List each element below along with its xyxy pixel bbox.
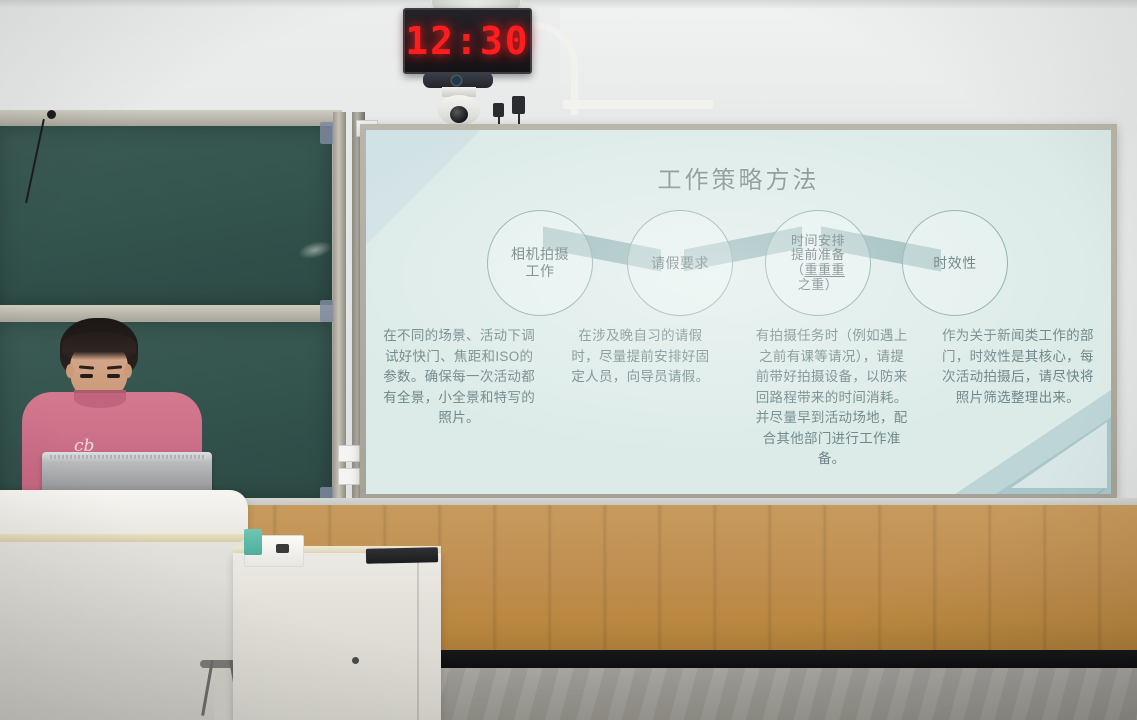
chalkboard-panel-upper	[0, 126, 332, 306]
step-circle-4-label: 时效性	[927, 255, 983, 272]
slide-surface: 工作策略方法 相机拍摄工作 请假要求 时间安排提前准备（重重重之重） 时效性	[366, 130, 1111, 494]
wall-webcam-bar	[423, 72, 493, 88]
microphone-head	[47, 110, 56, 119]
clock-time: 12:30	[405, 19, 529, 63]
cabinet-knob[interactable]	[352, 657, 359, 664]
step-body-2: 在涉及晚自习的请假时，尽量提前安排好固定人员，向导员请假。	[552, 326, 738, 470]
podium-desktop	[0, 490, 248, 536]
eye-right	[107, 374, 120, 378]
led-wall-clock: 12:30	[403, 8, 532, 74]
chalkboard-clip	[320, 122, 334, 144]
step-body-1: 在不同的场景、活动下调试好快门、焦距和ISO的参数。确保每一次活动都有全景，小全…	[366, 326, 552, 470]
step-circle-4: 时效性	[902, 210, 1008, 316]
step-circle-2-label: 请假要求	[645, 255, 715, 272]
classroom-photo: 12:30 工作策略方法 相机拍摄工作 请假要求 时间安排提前准备（重重重之重）	[0, 0, 1137, 720]
shirt-collar	[74, 390, 126, 408]
step-circle-3: 时间安排提前准备（重重重之重）	[765, 210, 871, 316]
step-body-3: 有拍摄任务时（例如遇上之前有课等请况），请提前带好拍摄设备，以防来回路程带来的时…	[739, 326, 925, 470]
podium-edge-strip	[0, 534, 246, 542]
upper-right-wall	[560, 0, 1137, 130]
chalkboard-clip	[320, 300, 334, 322]
slide-decoration-triangle	[941, 379, 1111, 494]
rail-sticker	[338, 468, 360, 485]
ceiling-dome-camera	[438, 95, 480, 125]
green-box	[244, 529, 262, 555]
side-cabinet[interactable]	[233, 553, 441, 720]
hair-fringe	[62, 332, 136, 360]
projection-screen: 工作策略方法 相机拍摄工作 请假要求 时间安排提前准备（重重重之重） 时效性	[360, 124, 1117, 500]
cable-conduit-horizontal	[563, 100, 713, 109]
step-circle-2: 请假要求	[627, 210, 733, 316]
step-circle-1-label: 相机拍摄工作	[505, 246, 575, 279]
ceiling-edge	[0, 0, 1137, 8]
rail-sticker	[338, 445, 360, 462]
ear-left	[66, 364, 74, 378]
ear-right	[124, 364, 132, 378]
small-dark-object	[276, 544, 289, 553]
step-circle-1: 相机拍摄工作	[487, 210, 593, 316]
cabinet-door-seam	[417, 560, 419, 720]
eye-left	[80, 374, 93, 378]
step-circle-3-label: 时间安排提前准备（重重重之重）	[785, 234, 851, 292]
power-adapter	[512, 96, 525, 114]
keyboard-on-cabinet[interactable]	[366, 547, 438, 564]
